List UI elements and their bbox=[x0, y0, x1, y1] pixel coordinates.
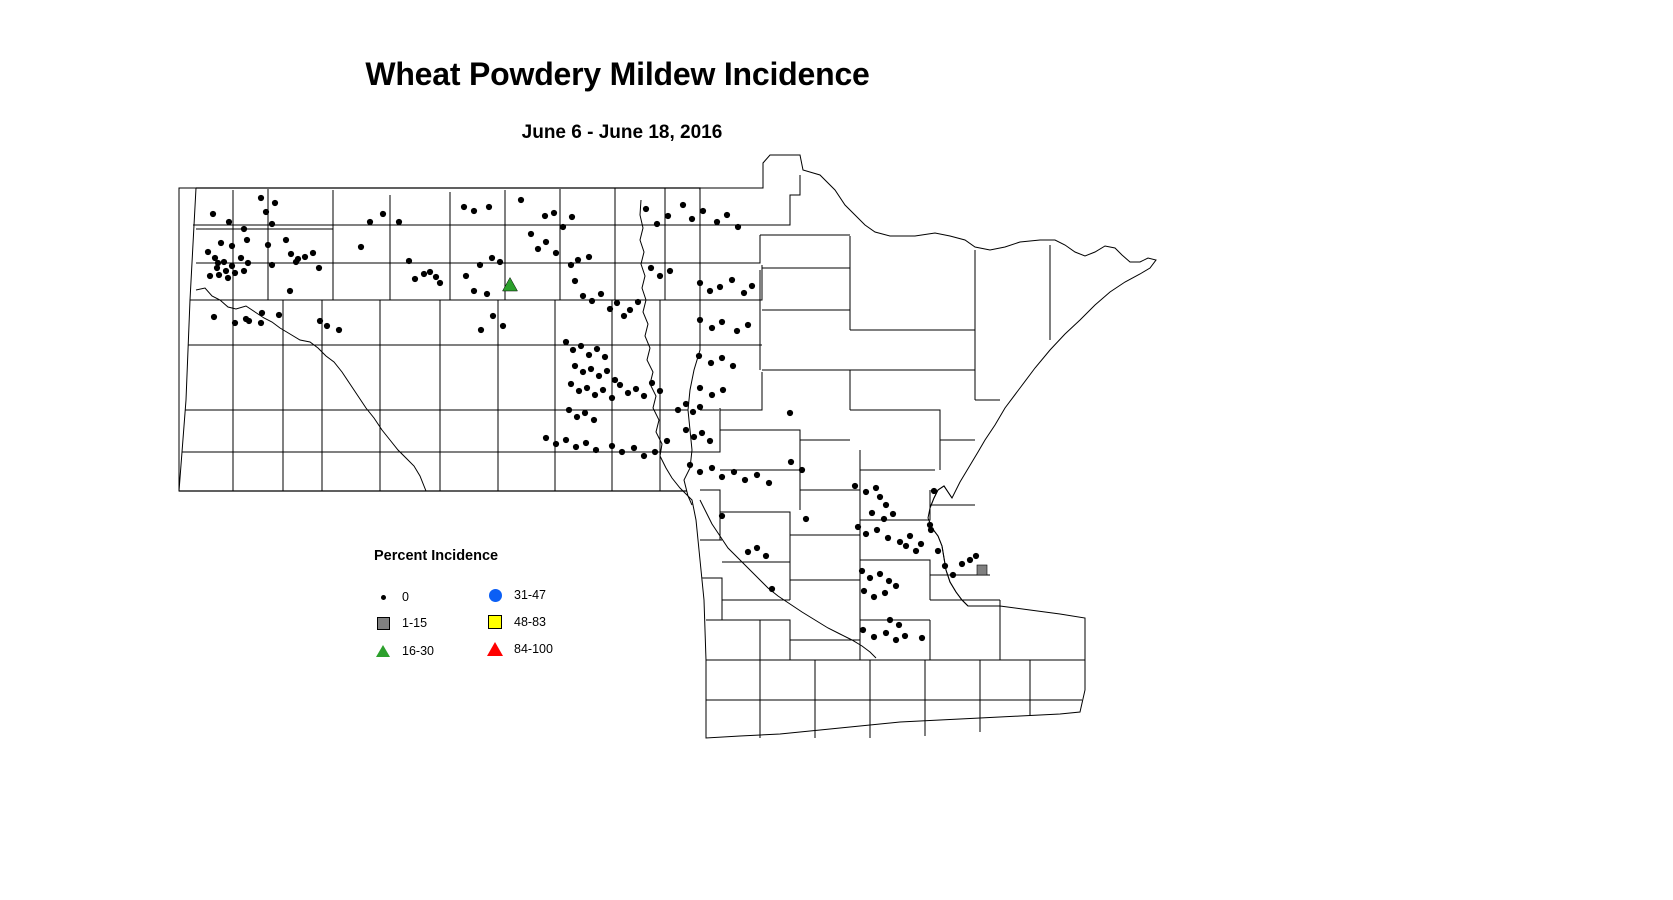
incidence-point bbox=[293, 259, 299, 265]
incidence-point bbox=[913, 548, 919, 554]
incidence-point bbox=[572, 363, 578, 369]
incidence-point bbox=[367, 219, 373, 225]
incidence-point bbox=[633, 386, 639, 392]
incidence-point bbox=[604, 368, 610, 374]
incidence-point bbox=[218, 240, 224, 246]
incidence-point bbox=[427, 269, 433, 275]
incidence-point bbox=[619, 449, 625, 455]
incidence-point bbox=[617, 382, 623, 388]
incidence-point bbox=[563, 437, 569, 443]
incidence-point bbox=[735, 224, 741, 230]
incidence-point bbox=[572, 278, 578, 284]
incidence-point bbox=[863, 531, 869, 537]
incidence-point bbox=[766, 480, 772, 486]
incidence-point bbox=[225, 275, 231, 281]
incidence-point bbox=[625, 390, 631, 396]
incidence-point bbox=[598, 291, 604, 297]
incidence-point bbox=[535, 246, 541, 252]
incidence-point bbox=[232, 270, 238, 276]
incidence-point bbox=[709, 325, 715, 331]
incidence-point bbox=[288, 251, 294, 257]
incidence-point bbox=[928, 527, 934, 533]
incidence-point bbox=[902, 633, 908, 639]
incidence-point bbox=[302, 254, 308, 260]
incidence-point bbox=[317, 318, 323, 324]
incidence-point bbox=[486, 204, 492, 210]
incidence-point bbox=[269, 262, 275, 268]
incidence-point bbox=[852, 483, 858, 489]
incidence-point bbox=[687, 462, 693, 468]
incidence-point bbox=[859, 568, 865, 574]
incidence-point bbox=[586, 352, 592, 358]
incidence-point bbox=[568, 381, 574, 387]
incidence-point bbox=[675, 407, 681, 413]
incidence-point bbox=[591, 417, 597, 423]
incidence-point bbox=[563, 339, 569, 345]
incidence-point bbox=[576, 388, 582, 394]
incidence-point bbox=[652, 449, 658, 455]
incidence-point bbox=[574, 414, 580, 420]
incidence-point bbox=[635, 299, 641, 305]
incidence-point bbox=[542, 213, 548, 219]
incidence-point bbox=[244, 237, 250, 243]
incidence-point bbox=[569, 214, 575, 220]
incidence-point bbox=[551, 210, 557, 216]
incidence-point bbox=[336, 327, 342, 333]
incidence-point bbox=[245, 260, 251, 266]
incidence-point bbox=[211, 314, 217, 320]
incidence-point bbox=[869, 510, 875, 516]
incidence-point bbox=[484, 291, 490, 297]
incidence-point bbox=[489, 255, 495, 261]
incidence-point bbox=[609, 443, 615, 449]
incidence-point bbox=[310, 250, 316, 256]
incidence-point bbox=[707, 438, 713, 444]
legend-label-48-83: 48-83 bbox=[514, 616, 546, 629]
incidence-point bbox=[543, 435, 549, 441]
incidence-point bbox=[754, 472, 760, 478]
incidence-point bbox=[589, 298, 595, 304]
legend-item-16-30: 16-30 bbox=[374, 642, 434, 660]
incidence-point bbox=[729, 277, 735, 283]
incidence-point bbox=[649, 380, 655, 386]
incidence-point bbox=[855, 524, 861, 530]
incidence-point bbox=[602, 354, 608, 360]
incidence-point bbox=[570, 347, 576, 353]
incidence-point bbox=[259, 310, 265, 316]
incidence-point bbox=[631, 445, 637, 451]
incidence-point bbox=[787, 410, 793, 416]
incidence-point bbox=[258, 195, 264, 201]
incidence-point bbox=[931, 488, 937, 494]
legend-label-1-15: 1-15 bbox=[402, 617, 427, 630]
incidence-point bbox=[223, 268, 229, 274]
incidence-point bbox=[734, 328, 740, 334]
legend: Percent Incidence 0 1-15 16-30 31-47 48-… bbox=[374, 548, 604, 666]
incidence-point bbox=[207, 273, 213, 279]
incidence-point bbox=[967, 557, 973, 563]
red-triangle-icon bbox=[486, 640, 504, 658]
incidence-point bbox=[269, 221, 275, 227]
legend-item-84-100: 84-100 bbox=[486, 640, 553, 658]
incidence-point bbox=[959, 561, 965, 567]
incidence-point bbox=[719, 319, 725, 325]
incidence-point bbox=[229, 263, 235, 269]
incidence-point bbox=[607, 306, 613, 312]
incidence-point bbox=[406, 258, 412, 264]
incidence-point bbox=[614, 300, 620, 306]
incidence-point bbox=[665, 213, 671, 219]
incidence-point bbox=[648, 265, 654, 271]
incidence-point bbox=[543, 239, 549, 245]
incidence-point bbox=[593, 447, 599, 453]
incidence-point bbox=[643, 206, 649, 212]
incidence-point bbox=[730, 363, 736, 369]
incidence-point bbox=[272, 200, 278, 206]
incidence-point bbox=[258, 320, 264, 326]
incidence-point bbox=[596, 373, 602, 379]
incidence-point bbox=[265, 242, 271, 248]
incidence-point bbox=[463, 273, 469, 279]
gray-square-icon bbox=[374, 614, 392, 632]
incidence-point bbox=[754, 545, 760, 551]
incidence-point bbox=[238, 255, 244, 261]
incidence-point bbox=[287, 288, 293, 294]
legend-label-31-47: 31-47 bbox=[514, 589, 546, 602]
incidence-point bbox=[690, 409, 696, 415]
legend-items: 0 1-15 16-30 31-47 48-83 84-100 bbox=[374, 586, 594, 666]
incidence-point bbox=[380, 211, 386, 217]
incidence-point bbox=[592, 392, 598, 398]
incidence-point bbox=[861, 588, 867, 594]
incidence-point bbox=[471, 288, 477, 294]
incidence-point bbox=[874, 527, 880, 533]
incidence-point bbox=[719, 355, 725, 361]
incidence-point bbox=[769, 586, 775, 592]
incidence-point bbox=[246, 318, 252, 324]
incidence-point bbox=[860, 627, 866, 633]
legend-title: Percent Incidence bbox=[374, 548, 604, 564]
incidence-point bbox=[942, 563, 948, 569]
incidence-point bbox=[573, 444, 579, 450]
legend-item-31-47: 31-47 bbox=[486, 586, 546, 604]
yellow-square-icon bbox=[486, 613, 504, 631]
incidence-point bbox=[707, 288, 713, 294]
incidence-point bbox=[568, 262, 574, 268]
incidence-point bbox=[977, 565, 987, 575]
incidence-point bbox=[893, 637, 899, 643]
incidence-point bbox=[877, 494, 883, 500]
incidence-point bbox=[691, 434, 697, 440]
incidence-point bbox=[621, 313, 627, 319]
incidence-point bbox=[742, 477, 748, 483]
incidence-point bbox=[882, 590, 888, 596]
map-page: Wheat Powdery Mildew Incidence June 6 - … bbox=[0, 0, 1673, 900]
incidence-point bbox=[497, 259, 503, 265]
incidence-point bbox=[697, 280, 703, 286]
incidence-point bbox=[229, 243, 235, 249]
incidence-point bbox=[886, 578, 892, 584]
incidence-point bbox=[490, 313, 496, 319]
incidence-point bbox=[566, 407, 572, 413]
incidence-point bbox=[594, 346, 600, 352]
incidence-point bbox=[749, 283, 755, 289]
incidence-point bbox=[215, 260, 221, 266]
incidence-point bbox=[216, 272, 222, 278]
incidence-point bbox=[903, 543, 909, 549]
incidence-point bbox=[717, 284, 723, 290]
incidence-point bbox=[316, 265, 322, 271]
incidence-point bbox=[583, 440, 589, 446]
incidence-point bbox=[518, 197, 524, 203]
incidence-point bbox=[697, 317, 703, 323]
incidence-point bbox=[586, 254, 592, 260]
minnesota-counties bbox=[684, 155, 1156, 738]
incidence-point bbox=[588, 366, 594, 372]
incidence-point bbox=[226, 219, 232, 225]
incidence-point bbox=[788, 459, 794, 465]
incidence-point bbox=[935, 548, 941, 554]
incidence-point bbox=[580, 293, 586, 299]
incidence-point bbox=[433, 274, 439, 280]
incidence-point bbox=[893, 583, 899, 589]
incidence-point bbox=[877, 571, 883, 577]
legend-label-0: 0 bbox=[402, 591, 409, 604]
incidence-point bbox=[580, 369, 586, 375]
incidence-point bbox=[553, 441, 559, 447]
incidence-point bbox=[584, 385, 590, 391]
incidence-point bbox=[528, 231, 534, 237]
incidence-point bbox=[871, 594, 877, 600]
incidence-point bbox=[741, 290, 747, 296]
incidence-point bbox=[907, 533, 913, 539]
blue-circle-icon bbox=[486, 586, 504, 604]
incidence-point bbox=[241, 268, 247, 274]
incidence-point bbox=[897, 539, 903, 545]
legend-item-1-15: 1-15 bbox=[374, 614, 427, 632]
incidence-point bbox=[358, 244, 364, 250]
incidence-point bbox=[683, 427, 689, 433]
incidence-point bbox=[664, 438, 670, 444]
incidence-point bbox=[600, 387, 606, 393]
incidence-point bbox=[654, 221, 660, 227]
legend-label-84-100: 84-100 bbox=[514, 643, 553, 656]
incidence-point bbox=[560, 224, 566, 230]
incidence-point bbox=[883, 502, 889, 508]
incidence-point bbox=[799, 467, 805, 473]
incidence-point bbox=[745, 322, 751, 328]
incidence-point bbox=[697, 385, 703, 391]
incidence-point bbox=[719, 513, 725, 519]
incidence-point bbox=[709, 392, 715, 398]
incidence-point bbox=[973, 553, 979, 559]
incidence-point bbox=[890, 511, 896, 517]
green-triangle-icon bbox=[374, 642, 392, 660]
incidence-point bbox=[896, 622, 902, 628]
incidence-point bbox=[324, 323, 330, 329]
incidence-point bbox=[627, 307, 633, 313]
incidence-point bbox=[478, 327, 484, 333]
incidence-point bbox=[641, 453, 647, 459]
incidence-point bbox=[883, 630, 889, 636]
incidence-point bbox=[719, 474, 725, 480]
incidence-point bbox=[221, 259, 227, 265]
incidence-point bbox=[437, 280, 443, 286]
incidence-point bbox=[578, 343, 584, 349]
incidence-point bbox=[421, 271, 427, 277]
incidence-point bbox=[699, 430, 705, 436]
incidence-point bbox=[708, 360, 714, 366]
incidence-point bbox=[683, 401, 689, 407]
incidence-point bbox=[471, 208, 477, 214]
incidence-point bbox=[575, 257, 581, 263]
incidence-point bbox=[697, 404, 703, 410]
incidence-point bbox=[863, 489, 869, 495]
incidence-point bbox=[232, 320, 238, 326]
incidence-point bbox=[263, 209, 269, 215]
incidence-point bbox=[697, 469, 703, 475]
incidence-point bbox=[731, 469, 737, 475]
legend-item-0: 0 bbox=[374, 588, 409, 606]
incidence-point bbox=[867, 575, 873, 581]
incidence-point bbox=[205, 249, 211, 255]
incidence-point bbox=[500, 323, 506, 329]
incidence-point bbox=[667, 268, 673, 274]
incidence-point bbox=[720, 387, 726, 393]
incidence-point bbox=[709, 465, 715, 471]
incidence-point bbox=[873, 485, 879, 491]
incidence-point bbox=[396, 219, 402, 225]
incidence-point bbox=[763, 553, 769, 559]
incidence-point bbox=[609, 395, 615, 401]
incidence-point bbox=[689, 216, 695, 222]
incidence-point bbox=[714, 219, 720, 225]
incidence-point bbox=[210, 211, 216, 217]
incidence-point bbox=[553, 250, 559, 256]
incidence-point bbox=[477, 262, 483, 268]
legend-label-16-30: 16-30 bbox=[402, 645, 434, 658]
incidence-point bbox=[461, 204, 467, 210]
incidence-point bbox=[724, 212, 730, 218]
incidence-point bbox=[881, 516, 887, 522]
incidence-point bbox=[657, 388, 663, 394]
incidence-point bbox=[276, 312, 282, 318]
incidence-point bbox=[919, 635, 925, 641]
incidence-point bbox=[641, 393, 647, 399]
incidence-point bbox=[871, 634, 877, 640]
incidence-point bbox=[657, 273, 663, 279]
incidence-point bbox=[680, 202, 686, 208]
incidence-point bbox=[950, 572, 956, 578]
incidence-point bbox=[803, 516, 809, 522]
incidence-point bbox=[696, 353, 702, 359]
incidence-point bbox=[412, 276, 418, 282]
incidence-point bbox=[283, 237, 289, 243]
incidence-point bbox=[582, 410, 588, 416]
map-svg bbox=[0, 0, 1673, 900]
incidence-point bbox=[241, 226, 247, 232]
incidence-point bbox=[887, 617, 893, 623]
incidence-point bbox=[885, 535, 891, 541]
incidence-point bbox=[745, 549, 751, 555]
incidence-point bbox=[700, 208, 706, 214]
north-dakota-counties bbox=[179, 188, 700, 491]
incidence-point bbox=[918, 541, 924, 547]
legend-item-48-83: 48-83 bbox=[486, 613, 546, 631]
small-black-dot-icon bbox=[374, 588, 392, 606]
incidence-point bbox=[612, 377, 618, 383]
map-canvas bbox=[0, 0, 1673, 900]
